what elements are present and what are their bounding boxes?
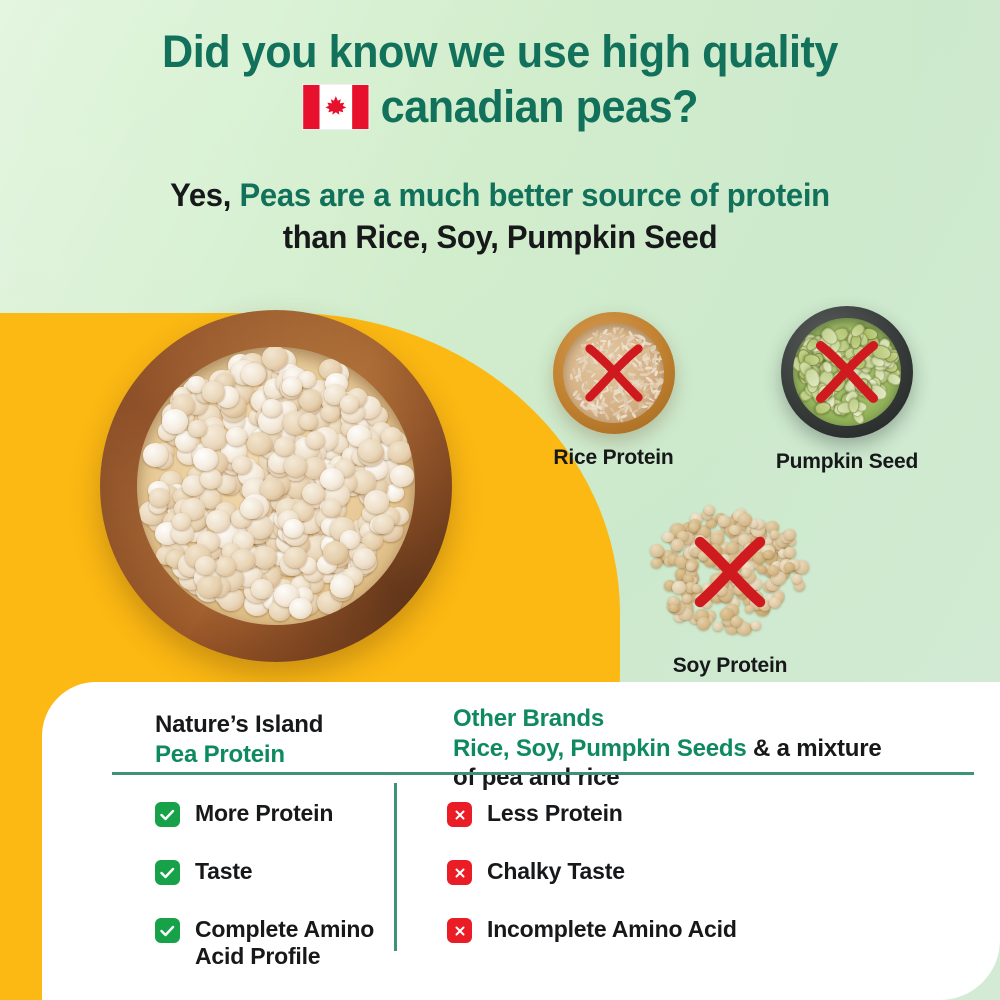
right-header-line-2: Rice, Soy, Pumpkin Seeds & a mixture: [453, 734, 973, 764]
pumpkin-seeds: [793, 318, 901, 426]
soy-bean-pile-image: [640, 500, 820, 650]
pumpkin-seed-bowl-image: [781, 306, 913, 438]
comparison-right-header: Other Brands Rice, Soy, Pumpkin Seeds & …: [453, 704, 973, 793]
header-divider: [112, 772, 974, 775]
benefit-label: Complete Amino Acid Profile: [195, 916, 395, 970]
canadian-flag-icon: [302, 84, 369, 130]
maple-leaf-icon: [323, 93, 348, 121]
soy-protein-caption: Soy Protein: [640, 654, 820, 678]
check-icon: [155, 860, 180, 885]
rice-grains: [563, 323, 663, 423]
drawback-row: Less Protein: [447, 800, 827, 827]
left-header-line-1: Nature’s Island: [155, 710, 323, 740]
headline: Did you know we use high quality canadia…: [20, 26, 980, 133]
comparison-card: Nature’s Island Pea Protein Other Brands…: [42, 682, 1000, 1000]
subheading: Yes, Peas are a much better source of pr…: [15, 175, 985, 258]
cross-icon: [447, 918, 472, 943]
right-header-line-3: of pea and rice: [453, 763, 973, 793]
right-header-line-1: Other Brands: [453, 704, 973, 734]
subheading-line-1: Yes, Peas are a much better source of pr…: [15, 175, 985, 217]
drawback-row: Incomplete Amino Acid: [447, 916, 867, 943]
drawback-label: Less Protein: [487, 800, 623, 827]
rejected-item-soy-protein: Soy Protein: [640, 500, 820, 678]
flag-band-right: [352, 85, 368, 129]
rejected-item-rice-protein: Rice Protein: [536, 312, 691, 470]
benefit-row: Complete Amino Acid Profile: [155, 916, 395, 970]
rice-protein-caption: Rice Protein: [536, 446, 691, 470]
comparison-left-header: Nature’s Island Pea Protein: [155, 710, 323, 769]
benefit-label: Taste: [195, 858, 252, 885]
check-icon: [155, 802, 180, 827]
cross-icon: [447, 802, 472, 827]
subheading-green: Peas are a much better source of protein: [239, 177, 829, 213]
left-header-line-2: Pea Protein: [155, 740, 323, 770]
pumpkin-seed-caption: Pumpkin Seed: [762, 450, 932, 474]
right-header-green-part: Rice, Soy, Pumpkin Seeds: [453, 735, 747, 762]
infographic-canvas: Did you know we use high quality canadia…: [0, 0, 1000, 1000]
check-icon: [155, 918, 180, 943]
benefit-label: More Protein: [195, 800, 333, 827]
drawback-row: Chalky Taste: [447, 858, 827, 885]
rice-bowl-image: [553, 312, 675, 434]
headline-line-1: Did you know we use high quality: [20, 26, 980, 78]
flag-band-left: [303, 85, 319, 129]
drawback-label: Chalky Taste: [487, 858, 625, 885]
headline-text-canadian-peas: canadian peas?: [381, 81, 698, 133]
subheading-line-2: than Rice, Soy, Pumpkin Seed: [15, 217, 985, 259]
right-header-dark-part: & a mixture: [747, 735, 882, 762]
cross-icon: [447, 860, 472, 885]
pea-bowl-contents: [137, 347, 415, 625]
benefit-row: More Protein: [155, 800, 385, 827]
benefit-row: Taste: [155, 858, 385, 885]
drawback-label: Incomplete Amino Acid: [487, 916, 737, 943]
rejected-item-pumpkin-seed: Pumpkin Seed: [762, 306, 932, 474]
subheading-lead: Yes,: [170, 177, 231, 213]
headline-line-2: canadian peas?: [20, 81, 980, 133]
pea-protein-bowl-image: [100, 310, 452, 662]
